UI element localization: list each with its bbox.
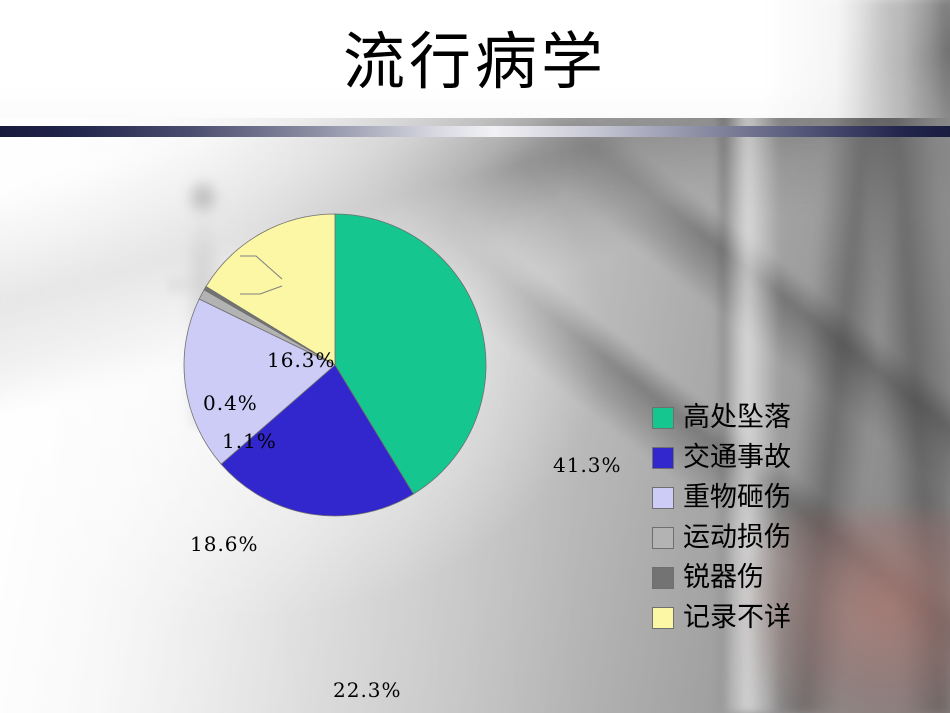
legend-color-swatch	[652, 447, 674, 469]
legend-item[interactable]: 记录不详	[652, 598, 832, 638]
legend-color-swatch	[652, 487, 674, 509]
pie-chart: 16.3% 41.3% 22.3% 18.6% 1.1% 0.4% 2002年北…	[0, 140, 950, 713]
pie-value-label-unrecorded: 16.3%	[267, 348, 336, 372]
slide: 流行病学 16.3% 41.3% 22.3% 18.6% 1.1% 0.4% 2…	[0, 0, 950, 713]
legend-item-label: 运动损伤	[683, 523, 791, 553]
legend-item[interactable]: 交通事故	[652, 438, 832, 478]
legend-item-label: 锐器伤	[683, 563, 764, 593]
pie-value-label-heavy-object: 18.6%	[190, 532, 259, 556]
legend-item-label: 交通事故	[683, 443, 791, 473]
legend-color-swatch	[652, 527, 674, 549]
legend-color-swatch	[652, 407, 674, 429]
pie-value-label-traffic-accident: 22.3%	[333, 678, 402, 702]
title-divider	[0, 126, 950, 137]
legend-item[interactable]: 运动损伤	[652, 518, 832, 558]
pie-value-label-sports-injury: 1.1%	[222, 429, 277, 453]
legend-item[interactable]: 锐器伤	[652, 558, 832, 598]
pie-value-label-fall-from-height: 41.3%	[553, 453, 622, 477]
legend-color-swatch	[652, 567, 674, 589]
legend-item[interactable]: 高处坠落	[652, 398, 832, 438]
page-title: 流行病学	[0, 22, 950, 102]
legend-item[interactable]: 重物砸伤	[652, 478, 832, 518]
legend-item-label: 重物砸伤	[683, 483, 791, 513]
legend-item-label: 记录不详	[683, 603, 791, 633]
legend-item-label: 高处坠落	[683, 403, 791, 433]
chart-legend: 高处坠落交通事故重物砸伤运动损伤锐器伤记录不详	[652, 398, 832, 638]
legend-color-swatch	[652, 607, 674, 629]
pie-value-label-sharp-object: 0.4%	[203, 391, 258, 415]
